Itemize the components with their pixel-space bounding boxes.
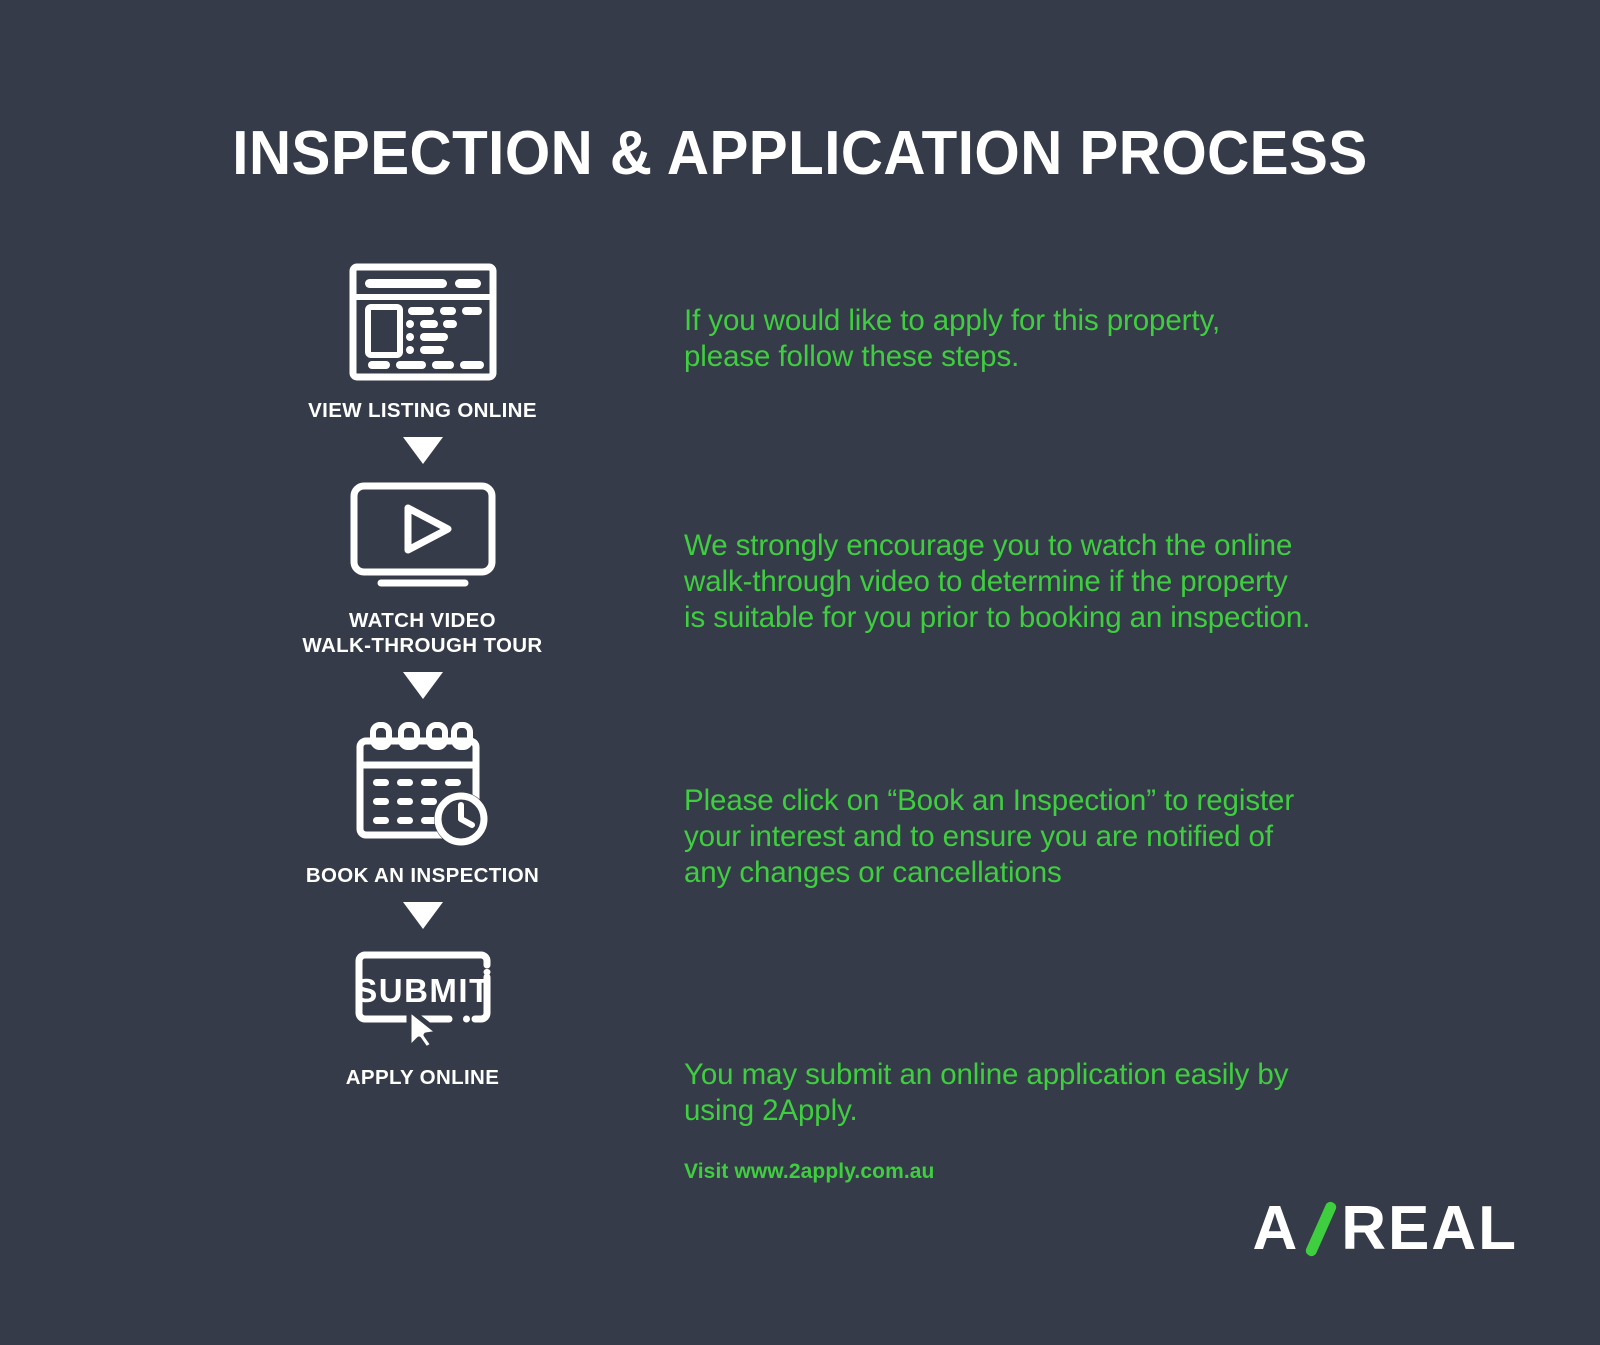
- step-description-1: If you would like to apply for this prop…: [684, 303, 1444, 375]
- step-apply-online: SUBMIT APPLY ONLINE: [190, 945, 655, 1090]
- calendar-clock-icon: [348, 715, 498, 847]
- visit-url-text[interactable]: Visit www.2apply.com.au: [684, 1160, 935, 1184]
- step-label: VIEW LISTING ONLINE: [308, 398, 537, 423]
- step-label: BOOK AN INSPECTION: [306, 863, 539, 888]
- infographic-page: INSPECTION & APPLICATION PROCESS: [0, 0, 1600, 1345]
- logo-word-real: REAL: [1341, 1198, 1518, 1260]
- flow-arrow-2-wrap: [190, 672, 655, 699]
- step-description-4: You may submit an online application eas…: [684, 1057, 1424, 1129]
- step-book-inspection: BOOK AN INSPECTION: [190, 715, 655, 888]
- flow-arrow-1-wrap: [190, 437, 655, 464]
- chevron-down-icon: [403, 902, 443, 929]
- submit-button-cursor-icon: SUBMIT: [347, 945, 499, 1049]
- page-title: INSPECTION & APPLICATION PROCESS: [48, 118, 1552, 189]
- logo-letter-a: A: [1252, 1198, 1299, 1260]
- listing-window-icon: [348, 262, 498, 382]
- step-view-listing-online: VIEW LISTING ONLINE: [190, 262, 655, 423]
- flow-arrow-3-wrap: [190, 902, 655, 929]
- brand-logo: A REAL: [1252, 1198, 1518, 1260]
- step-description-3: Please click on “Book an Inspection” to …: [684, 783, 1424, 891]
- submit-icon-text: SUBMIT: [355, 972, 491, 1009]
- step-watch-video: WATCH VIDEO WALK-THROUGH TOUR: [190, 480, 655, 658]
- step-label: WATCH VIDEO WALK-THROUGH TOUR: [302, 608, 542, 658]
- step-description-2: We strongly encourage you to watch the o…: [684, 528, 1444, 636]
- slash-icon: [1306, 1200, 1336, 1258]
- chevron-down-icon: [403, 672, 443, 699]
- video-monitor-play-icon: [348, 480, 498, 592]
- chevron-down-icon: [403, 437, 443, 464]
- step-flow-column: VIEW LISTING ONLINE WATCH VIDEO WALK-THR…: [190, 262, 655, 1090]
- step-label: APPLY ONLINE: [346, 1065, 499, 1090]
